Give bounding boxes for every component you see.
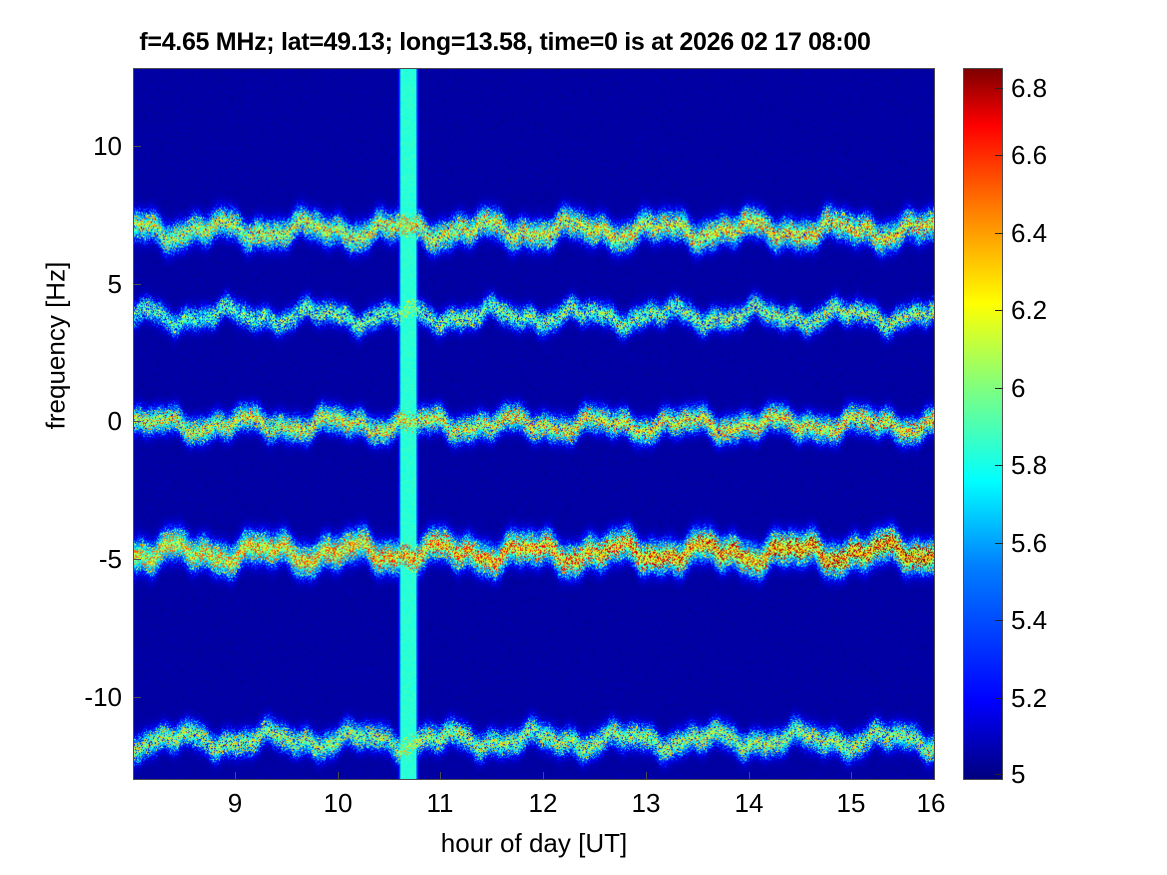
colorbar-tickmark [995, 233, 1003, 234]
spectrogram-plot-area [133, 68, 935, 780]
colorbar-tickmark [995, 774, 1003, 775]
y-tick-label: -5 [99, 546, 122, 572]
colorbar-tickmark [995, 155, 1003, 156]
colorbar-tick-label: 6.8 [1011, 75, 1047, 101]
colorbar-tick-label: 6.6 [1011, 142, 1047, 168]
y-tick-label: 0 [108, 408, 122, 434]
colorbar-tickmark [995, 698, 1003, 699]
colorbar-tickmark [995, 88, 1003, 89]
x-tickmark [646, 772, 647, 780]
colorbar-tick-label: 6.2 [1011, 297, 1047, 323]
y-tickmark [133, 146, 141, 147]
colorbar-tickmark [995, 465, 1003, 466]
x-tick-label: 16 [917, 790, 946, 816]
colorbar-tickmark [995, 620, 1003, 621]
colorbar-tick-label: 5.2 [1011, 685, 1047, 711]
spectrogram-figure: f=4.65 MHz; lat=49.13; long=13.58, time=… [0, 0, 1167, 875]
x-tick-label: 15 [837, 790, 866, 816]
colorbar-tick-label: 6 [1011, 375, 1025, 401]
figure-title: f=4.65 MHz; lat=49.13; long=13.58, time=… [0, 28, 1010, 57]
y-axis-label: frequency [Hz] [41, 246, 72, 446]
colorbar [963, 68, 1003, 780]
spectrogram-image [134, 69, 934, 779]
x-tick-label: 13 [632, 790, 661, 816]
colorbar-tick-label: 5.4 [1011, 607, 1047, 633]
x-tick-label: 9 [228, 790, 242, 816]
y-tickmark [133, 697, 141, 698]
x-tick-label: 11 [427, 790, 454, 816]
y-tickmark [133, 284, 141, 285]
y-tickmark [133, 559, 141, 560]
colorbar-tickmark [995, 310, 1003, 311]
x-tickmark [543, 772, 544, 780]
x-tickmark [934, 772, 935, 780]
x-tickmark [440, 772, 441, 780]
x-tickmark [749, 772, 750, 780]
x-tickmark [851, 772, 852, 780]
x-tick-label: 12 [529, 790, 558, 816]
y-tick-label: 5 [108, 271, 122, 297]
colorbar-tick-label: 5.8 [1011, 452, 1047, 478]
y-tickmark [133, 421, 141, 422]
colorbar-tick-label: 6.4 [1011, 220, 1047, 246]
x-tickmark [338, 772, 339, 780]
colorbar-tick-label: 5 [1011, 761, 1025, 787]
y-tick-label: 10 [93, 133, 122, 159]
colorbar-tick-label: 5.6 [1011, 530, 1047, 556]
colorbar-tickmark [995, 543, 1003, 544]
x-tick-label: 10 [324, 790, 353, 816]
x-axis-label: hour of day [UT] [133, 828, 935, 859]
x-tick-label: 14 [735, 790, 764, 816]
y-tick-label: -10 [84, 684, 122, 710]
x-tickmark [235, 772, 236, 780]
colorbar-tickmark [995, 388, 1003, 389]
